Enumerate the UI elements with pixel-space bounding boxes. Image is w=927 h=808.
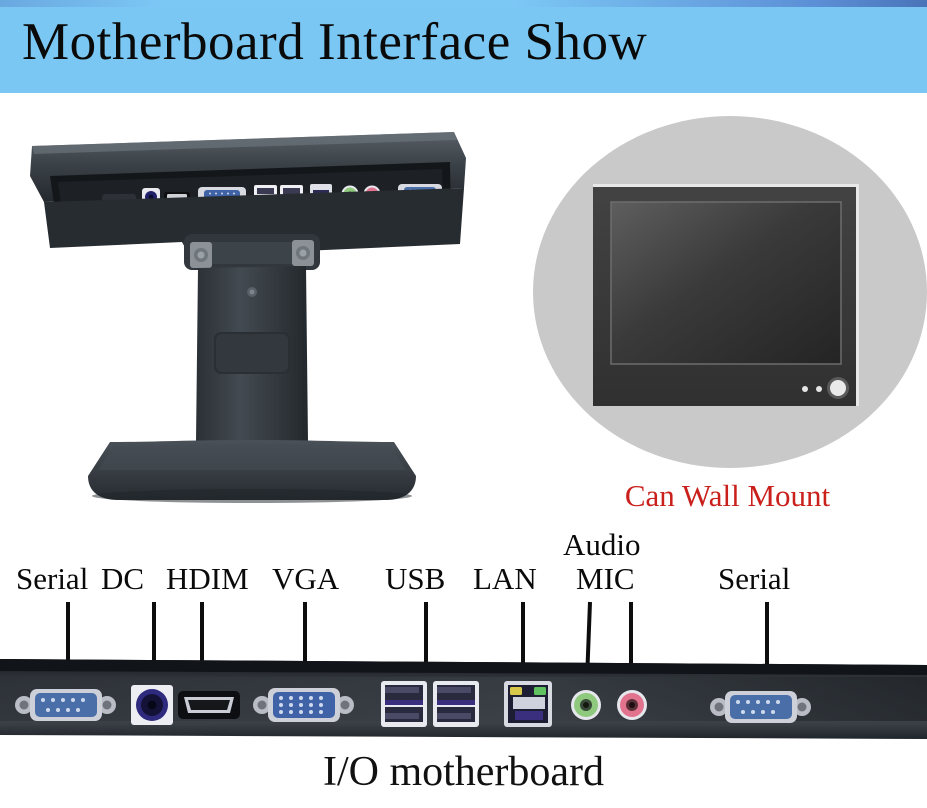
- usb-port-pair-2-graphic: [433, 681, 479, 727]
- io-panel-photo: [0, 655, 927, 743]
- hdmi-port-graphic: [178, 691, 240, 719]
- wall-mount-monitor-illustration: [533, 116, 927, 476]
- page-title: Motherboard Interface Show: [22, 11, 647, 73]
- audio-out-jack-graphic: [571, 690, 601, 720]
- label-serial-right: Serial: [718, 562, 790, 596]
- label-hdmi: HDIM: [166, 562, 249, 596]
- header-accent-strip: [0, 0, 927, 7]
- wall-mount-caption: Can Wall Mount: [528, 478, 927, 514]
- usb-port-pair-1-graphic: [381, 681, 427, 727]
- label-dc: DC: [101, 562, 144, 596]
- io-panel-caption: I/O motherboard: [0, 748, 927, 796]
- label-audio: Audio: [563, 528, 641, 562]
- indicator-dot-2: [816, 386, 822, 392]
- label-lan: LAN: [473, 562, 537, 596]
- indicator-dot-1: [802, 386, 808, 392]
- label-usb: USB: [385, 562, 445, 596]
- dc-jack-graphic: [131, 685, 173, 725]
- lan-port-graphic: [504, 681, 552, 727]
- mic-jack-graphic: [617, 690, 647, 720]
- wall-mount-photo: [533, 116, 927, 476]
- io-panel-illustration: [0, 655, 927, 743]
- monitor-stand-illustration: [14, 124, 474, 520]
- label-serial-left: Serial: [16, 562, 88, 596]
- label-vga: VGA: [272, 562, 339, 596]
- monitor-on-stand-photo: [14, 124, 474, 520]
- label-mic: MIC: [576, 562, 635, 596]
- page-header: Motherboard Interface Show: [0, 0, 927, 93]
